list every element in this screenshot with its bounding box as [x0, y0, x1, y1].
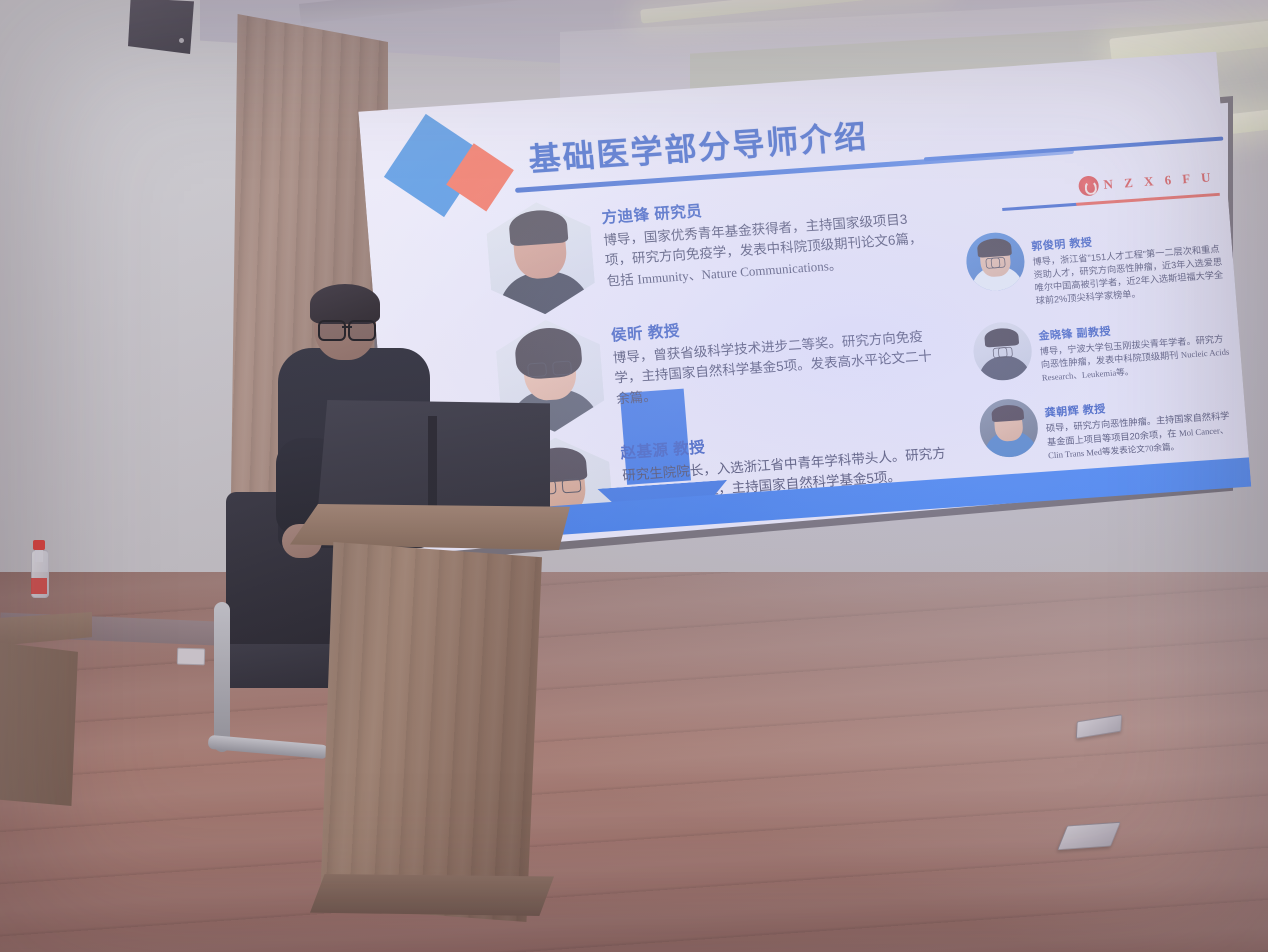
lecture-hall-photo: 基础医学部分导师介绍 N Z X 6 F U	[0, 0, 1268, 952]
avatar	[978, 398, 1041, 460]
list-item[interactable]: 金晓锋 副教授 博导，宁波大学包玉刚拔尖青年学者。研究方向恶性肿瘤，发表中科院顶…	[971, 307, 1232, 390]
title-underline-extension	[924, 136, 1224, 161]
side-table-top	[0, 612, 92, 646]
monitor-stand	[428, 416, 437, 510]
eyeglasses-icon	[318, 320, 376, 337]
list-item[interactable]: 郭俊明 教授 博导，浙江省"151人才工程"第一二层次和重点资助人才，研究方向恶…	[964, 217, 1226, 313]
bottle-label	[31, 578, 47, 594]
side-table	[0, 612, 92, 802]
list-item[interactable]: 龚朝辉 教授 硕导，研究方向恶性肿瘤。主持国家自然科学基金面上项目等项目20余项…	[978, 384, 1239, 467]
university-seal-icon	[1078, 175, 1100, 196]
bottle-cap	[33, 540, 45, 550]
avatar	[964, 231, 1027, 293]
wall-power-outlet	[177, 648, 205, 666]
lectern-base	[310, 874, 554, 916]
brand-wordmark: N Z X 6 F U	[1103, 169, 1215, 193]
water-bottle	[30, 536, 48, 598]
faculty-bio: 博导，浙江省"151人才工程"第一二层次和重点资助人才，研究方向恶性肿瘤，近3年…	[1032, 243, 1226, 308]
bottle-neck	[35, 548, 43, 562]
lectern-body	[320, 542, 542, 922]
avatar	[971, 321, 1034, 383]
chair-armrest	[214, 602, 230, 752]
speaker-led	[179, 38, 184, 43]
side-table-leg	[0, 642, 78, 806]
avatar	[484, 199, 597, 318]
right-faculty-list: 郭俊明 教授 博导，浙江省"151人才工程"第一二层次和重点资助人才，研究方向恶…	[964, 217, 1239, 479]
lectern	[252, 460, 552, 930]
brand-logo: N Z X 6 F U	[1078, 167, 1215, 196]
lectern-top	[290, 504, 570, 550]
wall-speaker-icon	[128, 0, 194, 54]
brand-divider	[1002, 193, 1220, 211]
eyeglasses-bridge	[342, 326, 352, 328]
presenter-hair	[310, 284, 380, 324]
